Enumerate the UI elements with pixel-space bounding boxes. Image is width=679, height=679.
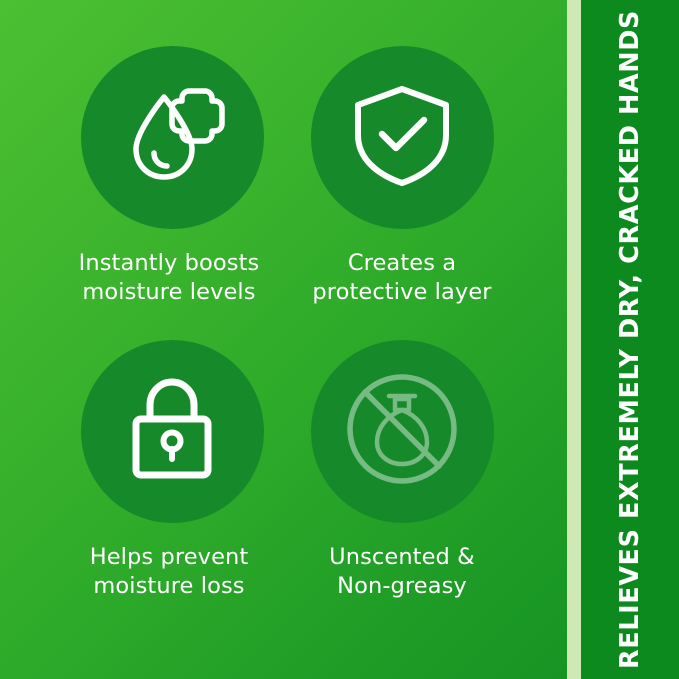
feature-icon-circle (81, 340, 264, 523)
panel-divider (567, 0, 581, 679)
side-banner-text: RELIEVES EXTREMELY DRY, CRACKED HANDS (581, 0, 679, 679)
padlock-icon (112, 369, 232, 494)
side-banner: RELIEVES EXTREMELY DRY, CRACKED HANDS (581, 0, 679, 679)
product-feature-graphic: Instantly boosts moisture levels Creates… (0, 0, 679, 679)
feature-caption: Helps prevent moisture loss (42, 543, 302, 601)
droplet-plus-icon (112, 75, 232, 200)
feature-grid: Instantly boosts moisture levels Creates… (0, 0, 567, 679)
features-panel: Instantly boosts moisture levels Creates… (0, 0, 567, 679)
feature-item-instantly-boosts-moisture-levels: Instantly boosts moisture levels (42, 46, 302, 307)
feature-item-unscented-non-greasy: Unscented & Non-greasy (272, 340, 532, 601)
feature-icon-circle (311, 340, 494, 523)
no-fragrance-bottle-icon (339, 366, 465, 497)
feature-icon-circle (81, 46, 264, 229)
feature-item-helps-prevent-moisture-loss: Helps prevent moisture loss (42, 340, 302, 601)
feature-item-creates-a-protective-layer: Creates a protective layer (272, 46, 532, 307)
feature-icon-circle (311, 46, 494, 229)
shield-check-icon (342, 75, 462, 200)
feature-caption: Unscented & Non-greasy (272, 543, 532, 601)
feature-caption: Creates a protective layer (272, 249, 532, 307)
feature-caption: Instantly boosts moisture levels (42, 249, 302, 307)
